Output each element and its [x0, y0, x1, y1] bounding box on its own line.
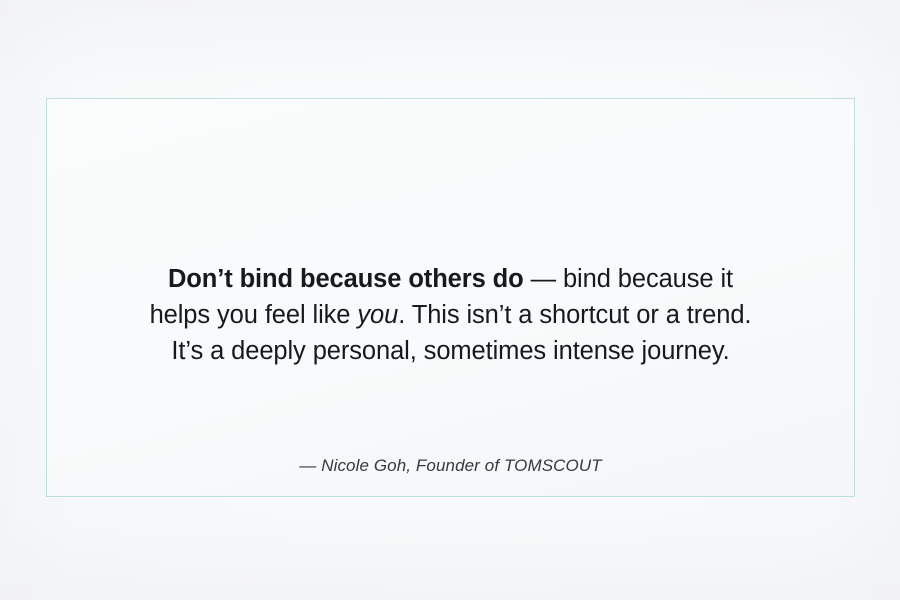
quote-line-3: It’s a deeply personal, sometimes intens…	[115, 333, 786, 369]
quote-line-3-text: It’s a deeply personal, sometimes intens…	[171, 337, 729, 365]
quote-line-2-prefix: helps you feel like	[150, 301, 358, 329]
page-canvas: Don’t bind because others do — bind beca…	[0, 0, 900, 600]
pull-quote: Don’t bind because others do — bind beca…	[87, 261, 814, 369]
quote-attribution: — Nicole Goh, Founder of TOMSCOUT	[47, 454, 854, 478]
quote-line-1-rest: — bind because it	[524, 265, 733, 293]
quote-line-2-suffix: . This isn’t a shortcut or a trend.	[398, 301, 751, 329]
quote-line-2-emphasis: you	[357, 301, 398, 329]
quote-card-frame: Don’t bind because others do — bind beca…	[46, 98, 855, 497]
quote-line-1: Don’t bind because others do — bind beca…	[115, 261, 786, 297]
quote-line-1-bold: Don’t bind because others do	[168, 265, 524, 293]
quote-line-2: helps you feel like you. This isn’t a sh…	[115, 297, 786, 333]
